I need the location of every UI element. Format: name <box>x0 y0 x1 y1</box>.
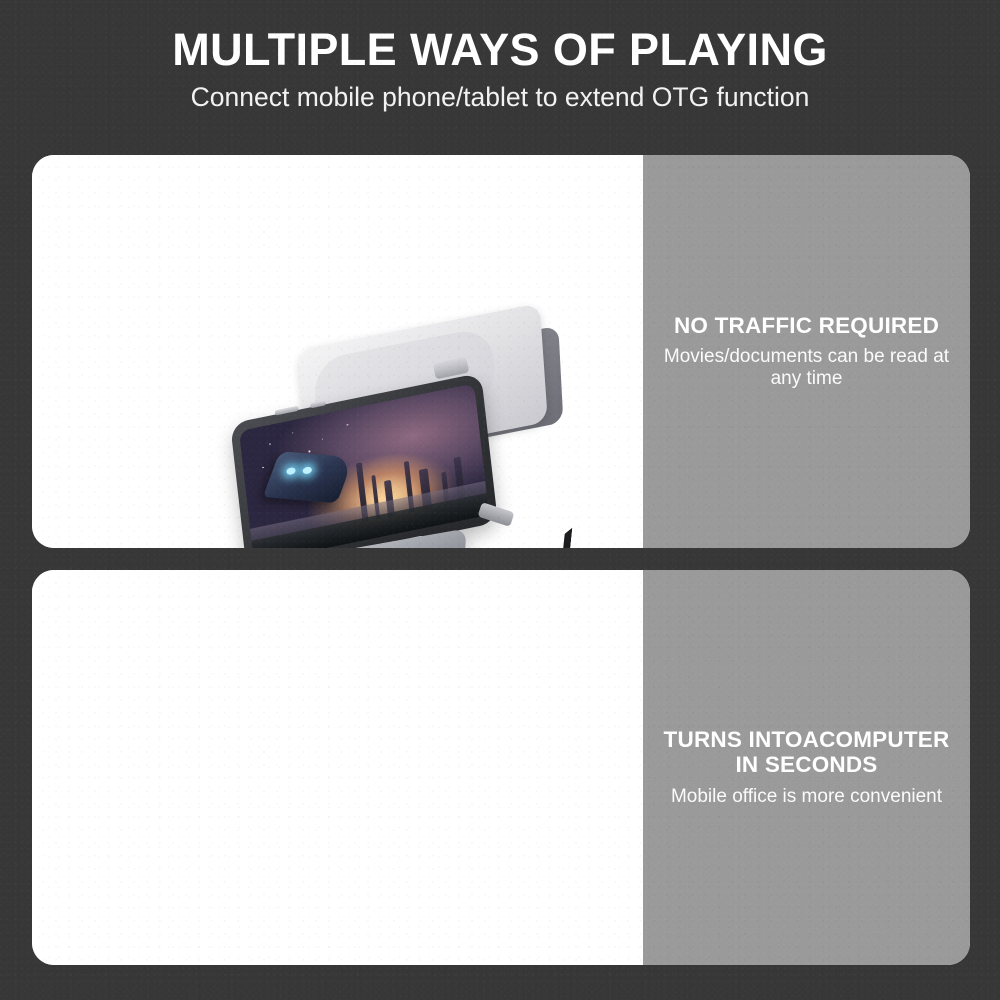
smartphone <box>230 373 498 548</box>
feature-card-turns-into-computer: Files Recents Locations iCloud Drive On … <box>32 570 970 965</box>
feature-subtitle: Mobile office is more convenient <box>671 778 942 808</box>
feature-text-panel-2: TURNS INTOACOMPUTER IN SECONDS Mobile of… <box>643 570 970 965</box>
promo-header: MULTIPLE WAYS OF PLAYING Connect mobile … <box>0 0 1000 112</box>
feature-title: TURNS INTOACOMPUTER IN SECONDS <box>657 727 956 777</box>
page-subtitle: Connect mobile phone/tablet to extend OT… <box>0 73 1000 112</box>
feature-text-panel-1: NO TRAFFIC REQUIRED Movies/documents can… <box>643 155 970 548</box>
feature-title: NO TRAFFIC REQUIRED <box>674 313 939 338</box>
product-photo-phone-hub: GOOJODOQ GOOD CHOICE GOOD LIFE <box>32 155 643 548</box>
phone-screen-game <box>239 383 489 548</box>
feature-subtitle: Movies/documents can be read at any time <box>657 338 956 390</box>
page-title: MULTIPLE WAYS OF PLAYING <box>0 0 1000 73</box>
feature-card-no-traffic: GOOJODOQ GOOD CHOICE GOOD LIFE NO TRAFFI… <box>32 155 970 548</box>
phone-button <box>275 406 299 416</box>
product-photo-tablet-hub: Files Recents Locations iCloud Drive On … <box>32 570 643 965</box>
